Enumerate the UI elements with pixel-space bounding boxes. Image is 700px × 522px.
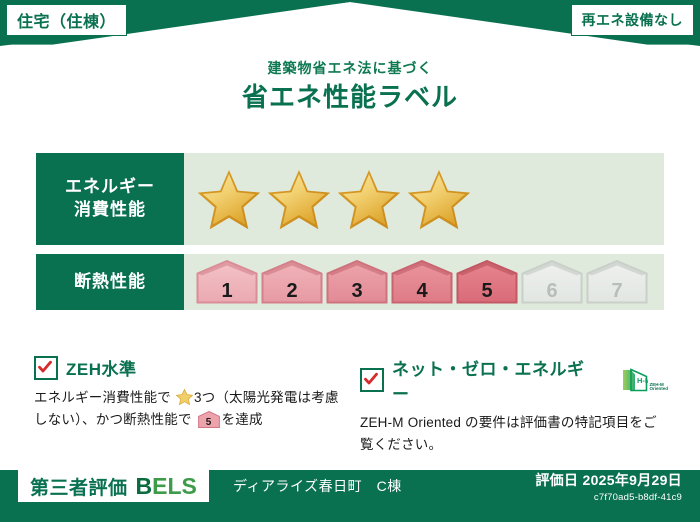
zeh-m-oriented-logo-icon: H-M ZEH-M Oriented	[614, 368, 668, 392]
criterion-zeh-header: ZEH水準	[34, 355, 342, 380]
evaluation-date-label: 評価日	[535, 472, 578, 488]
insulation-badge-icon: 5	[198, 411, 220, 428]
insulation-level-value: 2	[261, 281, 323, 301]
star-icon	[266, 168, 332, 231]
row-insulation-performance-value: 1234567	[184, 254, 664, 310]
row-insulation-label-line1: 断熱性能	[74, 271, 146, 294]
svg-text:H-M: H-M	[637, 376, 648, 385]
criterion-zeh-standard: ZEH水準 エネルギー消費性能で 3つ（太陽光発電は考慮しない）、かつ断熱性能で…	[34, 355, 342, 456]
bels-japanese-label: 第三者評価	[30, 473, 128, 500]
bels-certification-mark: 第三者評価 BELS	[18, 470, 209, 502]
criterion-zeh-title: ZEH水準	[66, 355, 137, 380]
star-icon	[176, 389, 193, 405]
bels-energy-performance-label: 住宅（住棟） 再エネ設備なし 建築物省エネ法に基づく 省エネ性能ラベル エネルギ…	[0, 0, 700, 522]
badge-building-type: 住宅（住棟）	[6, 4, 127, 36]
insulation-level-6: 6	[521, 260, 583, 304]
insulation-level-value: 5	[456, 281, 518, 301]
evaluation-date-value: 2025年9月29日	[582, 472, 682, 488]
insulation-level-5: 5	[456, 260, 518, 304]
building-name: ディアライズ春日町 C棟	[233, 476, 402, 496]
insulation-level-value: 6	[521, 281, 583, 301]
criterion-nze-title: ネット・ゼロ・エネルギー	[392, 355, 600, 405]
badge-renewable-energy: 再エネ設備なし	[571, 4, 695, 36]
insulation-level-2: 2	[261, 260, 323, 304]
insulation-level-7: 7	[586, 260, 648, 304]
insulation-level-4: 4	[391, 260, 453, 304]
row-insulation-performance: 断熱性能 1234567	[36, 254, 664, 310]
criterion-net-zero-energy: ネット・ゼロ・エネルギー H-M ZEH-M	[360, 355, 668, 456]
criterion-nze-header: ネット・ゼロ・エネルギー H-M ZEH-M	[360, 355, 668, 405]
criterion-nze-description: ZEH-M Oriented の要件は評価書の特記項目をご覧ください。	[360, 412, 668, 456]
star-icon	[196, 168, 262, 231]
insulation-level-value: 4	[391, 281, 453, 301]
row-energy-performance-value	[184, 153, 664, 245]
evaluation-date: 評価日 2025年9月29日	[535, 470, 682, 490]
criterion-zeh-text-1: エネルギー消費性能で	[34, 390, 171, 405]
label-subtitle: 建築物省エネ法に基づく	[0, 60, 700, 77]
evaluation-id: c7f70ad5-b8df-41c9	[535, 492, 682, 503]
insulation-badge-value: 5	[198, 418, 220, 428]
label-title-block: 建築物省エネ法に基づく 省エネ性能ラベル	[0, 60, 700, 113]
badge-renewable-energy-label: 再エネ設備なし	[582, 10, 684, 30]
evaluation-info: 評価日 2025年9月29日 c7f70ad5-b8df-41c9	[535, 470, 682, 503]
badge-building-type-label: 住宅（住棟）	[17, 8, 116, 32]
bels-logo-text: BELS	[136, 473, 197, 500]
row-energy-performance-label: エネルギー 消費性能	[36, 153, 184, 245]
criterion-zeh-text-3: を達成	[222, 412, 263, 427]
insulation-level-value: 3	[326, 281, 388, 301]
row-insulation-performance-label: 断熱性能	[36, 254, 184, 310]
row-energy-label-line1: エネルギー	[65, 176, 155, 199]
insulation-level-value: 1	[196, 281, 258, 301]
insulation-level-1: 1	[196, 260, 258, 304]
insulation-level-scale: 1234567	[184, 260, 648, 304]
star-rating	[184, 168, 472, 231]
criteria-section: ZEH水準 エネルギー消費性能で 3つ（太陽光発電は考慮しない）、かつ断熱性能で…	[34, 355, 668, 456]
row-energy-label-line2: 消費性能	[74, 199, 146, 222]
insulation-level-3: 3	[326, 260, 388, 304]
label-title: 省エネ性能ラベル	[0, 82, 700, 113]
label-footer: 第三者評価 BELS ディアライズ春日町 C棟 評価日 2025年9月29日 c…	[0, 460, 700, 522]
star-icon	[336, 168, 402, 231]
bels-logo-b: B	[136, 473, 153, 499]
bels-logo-els: ELS	[152, 473, 197, 499]
insulation-level-value: 7	[586, 281, 648, 301]
checkbox-checked-icon	[34, 356, 58, 380]
zeh-logo-text-bottom: Oriented	[649, 387, 668, 392]
star-icon	[406, 168, 472, 231]
rating-rows: エネルギー 消費性能 断熱性能 1234567	[36, 153, 664, 310]
checkbox-checked-icon	[360, 368, 384, 392]
criterion-zeh-description: エネルギー消費性能で 3つ（太陽光発電は考慮しない）、かつ断熱性能で 5 を達成	[34, 387, 342, 431]
row-energy-performance: エネルギー 消費性能	[36, 153, 664, 245]
